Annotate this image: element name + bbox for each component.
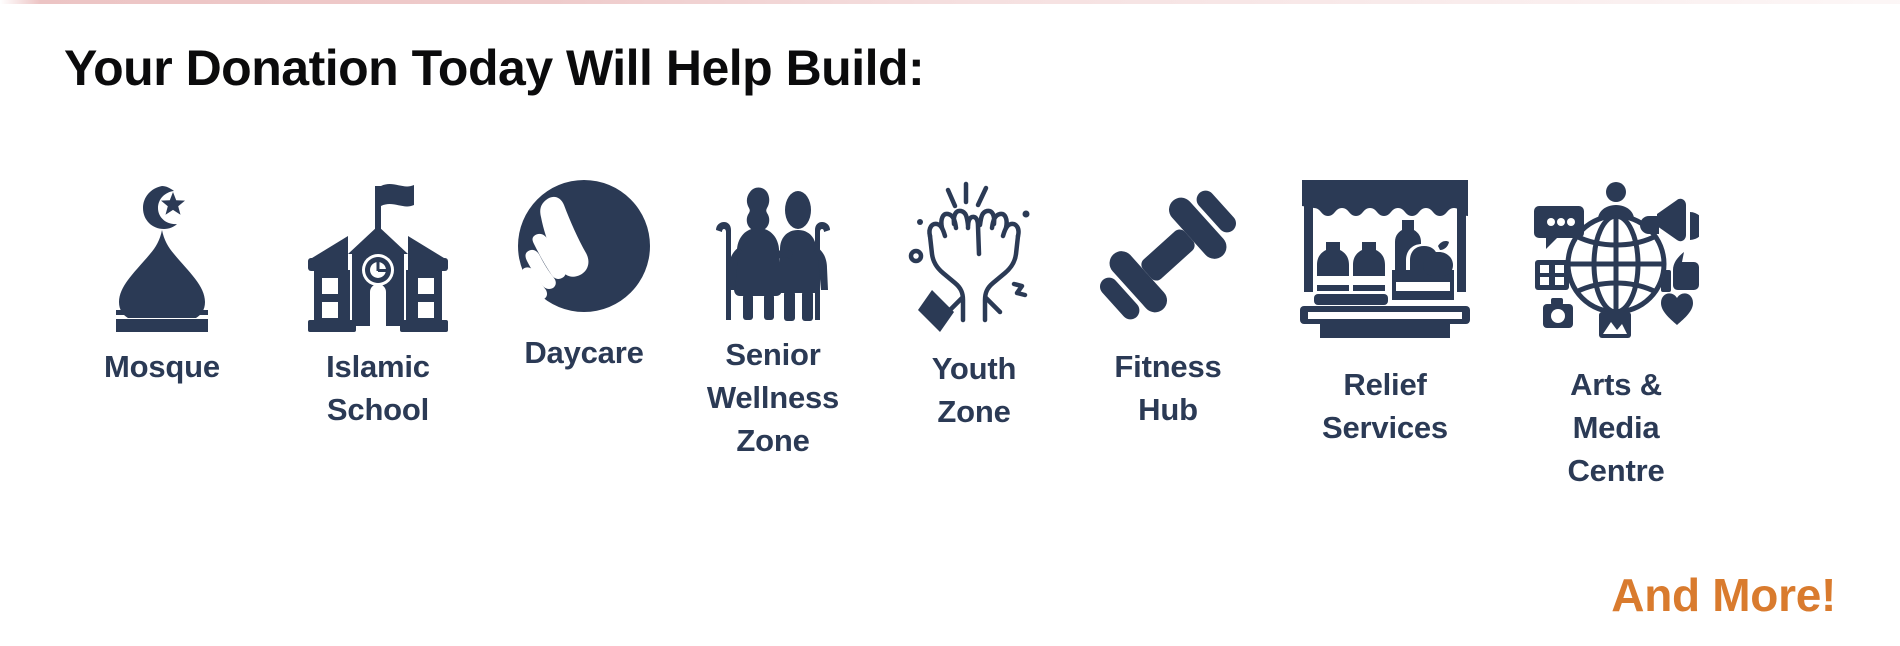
arts-icon-box (1533, 178, 1699, 338)
and-more-label: And More! (1611, 568, 1836, 622)
build-item-label: Mosque (104, 346, 220, 389)
globe-media-network-icon (1533, 178, 1699, 338)
fitness-icon-box (1092, 178, 1244, 332)
page-title: Your Donation Today Will Help Build: (64, 40, 924, 98)
donation-build-section: Your Donation Today Will Help Build: Mos… (0, 0, 1900, 646)
build-item-label: Islamic School (326, 346, 430, 432)
relief-icon-box (1296, 178, 1474, 338)
build-item-arts-media-centre[interactable]: Arts & Media Centre (1520, 178, 1712, 492)
relief-market-stall-icon (1296, 178, 1474, 338)
mosque-dome-crescent-icon (99, 178, 225, 332)
caring-hands-circle-icon (514, 178, 654, 314)
build-item-label: Youth Zone (932, 348, 1017, 434)
mosque-icon-box (99, 178, 225, 332)
youth-icon-box (902, 178, 1046, 334)
build-item-label: Senior Wellness Zone (707, 334, 839, 462)
build-item-relief-services[interactable]: Relief Services (1290, 178, 1480, 450)
school-icon-box (300, 178, 456, 332)
school-building-flag-clock-icon (300, 178, 456, 332)
build-item-islamic-school[interactable]: Islamic School (278, 178, 478, 432)
elderly-couple-canes-icon (698, 178, 848, 324)
build-item-senior-wellness-zone[interactable]: Senior Wellness Zone (678, 178, 868, 462)
build-item-youth-zone[interactable]: Youth Zone (894, 178, 1054, 434)
high-five-hands-icon (902, 178, 1046, 334)
build-item-fitness-hub[interactable]: Fitness Hub (1082, 178, 1254, 432)
top-edge-strip (0, 0, 1900, 4)
build-item-label: Daycare (524, 332, 643, 375)
build-item-label: Relief Services (1322, 364, 1448, 450)
daycare-icon-box (514, 178, 654, 314)
dumbbell-icon (1092, 178, 1244, 332)
build-item-label: Arts & Media Centre (1568, 364, 1665, 492)
build-items-row: Mosque (64, 178, 1854, 492)
build-item-label: Fitness Hub (1114, 346, 1221, 432)
build-item-daycare[interactable]: Daycare (500, 178, 668, 375)
build-item-mosque[interactable]: Mosque (64, 178, 260, 389)
senior-icon-box (698, 178, 848, 324)
